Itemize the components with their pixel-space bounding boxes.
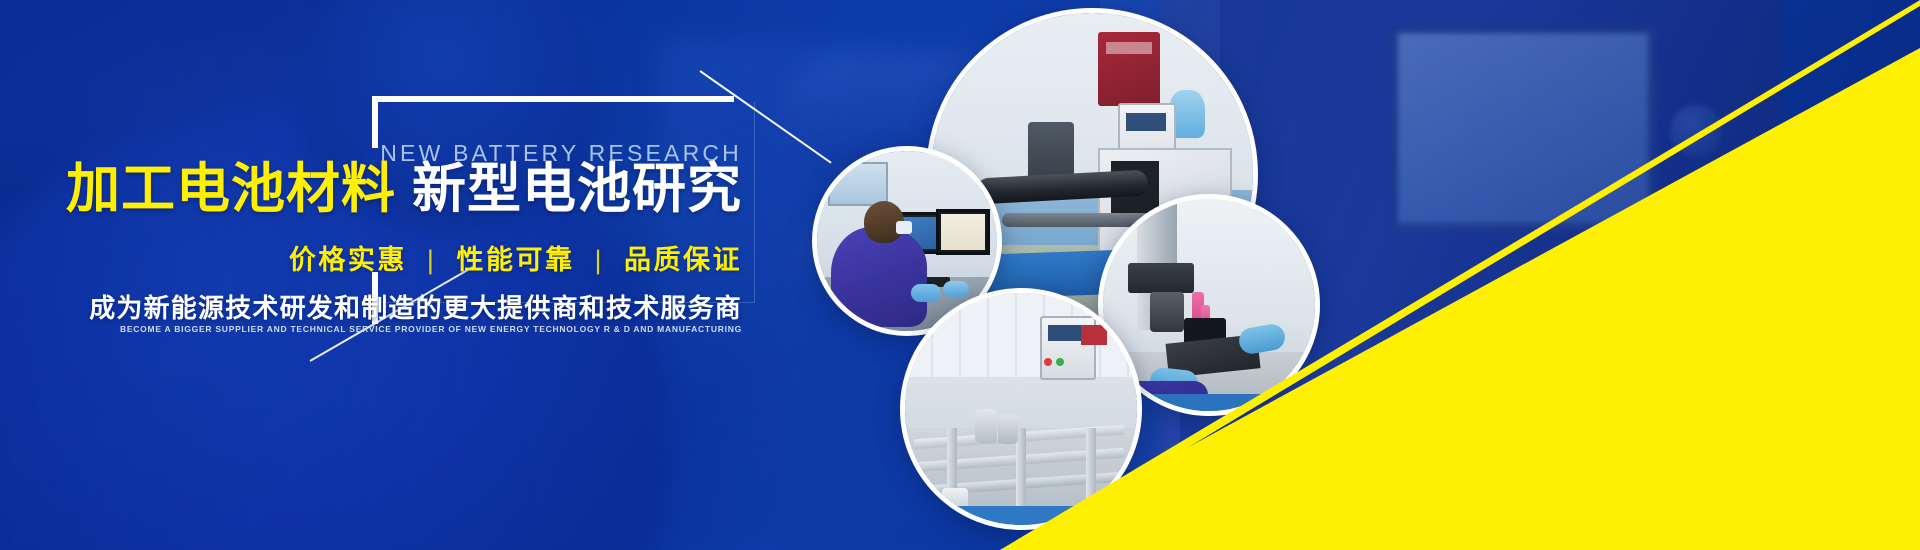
banner-mission-statement: 成为新能源技术研发和制造的更大提供商和技术服务商: [89, 288, 742, 325]
headline-main: 新型电池研究: [412, 159, 742, 219]
hero-banner: NEW BATTERY RESEARCH 加工电池材料新型电池研究 价格实惠 |…: [0, 0, 1920, 550]
banner-headline: 加工电池材料新型电池研究: [66, 162, 742, 216]
feature-separator-1: |: [427, 245, 437, 275]
feature-item-2: 性能可靠: [456, 245, 574, 275]
banner-fineprint-english: BECOME A BIGGER SUPPLIER AND TECHNICAL S…: [120, 324, 742, 334]
banner-feature-list: 价格实惠 | 性能可靠 | 品质保证: [289, 238, 742, 277]
feature-item-3: 品质保证: [624, 245, 742, 275]
feature-separator-2: |: [594, 245, 604, 275]
headline-highlight: 加工电池材料: [66, 159, 396, 219]
feature-item-1: 价格实惠: [289, 245, 407, 275]
banner-copy: NEW BATTERY RESEARCH 加工电池材料新型电池研究 价格实惠 |…: [0, 0, 940, 550]
